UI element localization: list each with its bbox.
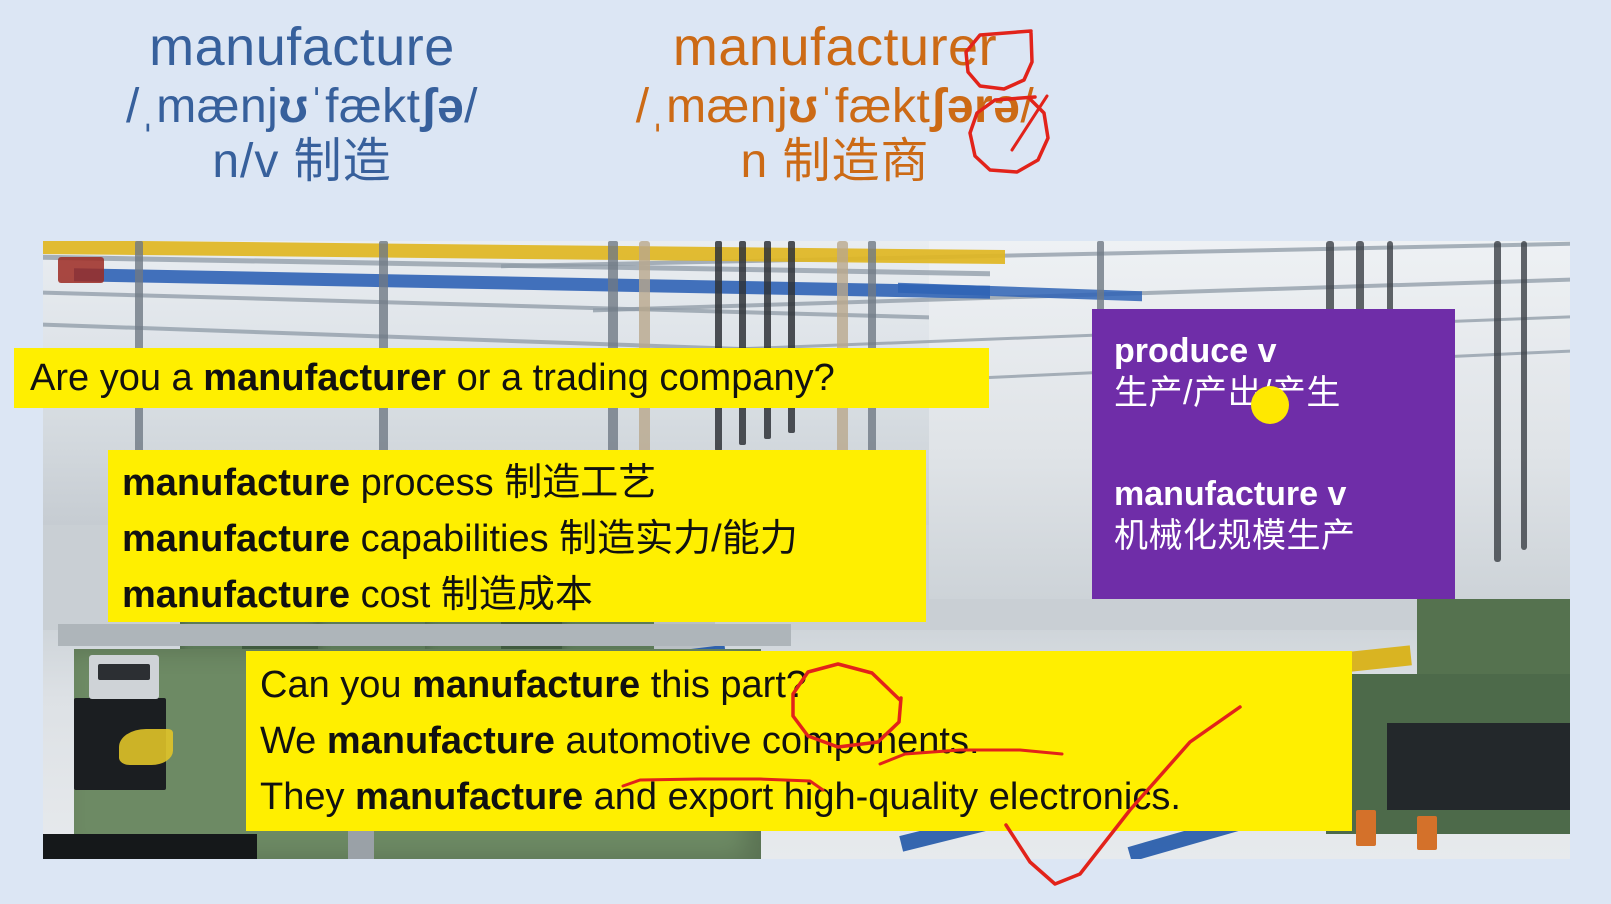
purple-entry2-gloss: 机械化规模生产 [1114, 515, 1455, 559]
vocab-ipa-right: /ˌmænjʊˈfæktʃərə/ [565, 79, 1105, 135]
highlight-banner-question: Are you a manufacturer or a trading comp… [14, 348, 989, 408]
example-keyword: manufacture [327, 720, 555, 762]
vocab-gloss-left: n/v 制造 [42, 134, 562, 190]
vocab-entry-manufacture: manufacture /ˌmænjʊˈfæktʃə/ n/v 制造 [42, 16, 562, 190]
foreground-machine-top [58, 624, 791, 646]
highlight-banner-examples: Can you manufacture this part? We manufa… [246, 651, 1352, 831]
purple-definition-box: produce v 生产/产出/产生 manufacture v 机械化规模生产 [1092, 309, 1455, 599]
purple-spacer [1114, 416, 1455, 474]
example-post: automotive components. [555, 720, 980, 762]
machine-unit [1387, 723, 1570, 810]
crane-hoist [58, 257, 104, 283]
example-line: They manufacture and export high-quality… [260, 769, 1352, 825]
example-line: We manufacture automotive components. [260, 713, 1352, 769]
collocation-keyword: manufacture [122, 518, 350, 560]
collocation-rest: cost 制造成本 [350, 574, 593, 616]
ipa-post-right: / [1020, 80, 1034, 133]
ipa-pre-right: /ˌmænj [636, 80, 788, 133]
collocation-line: manufacture cost 制造成本 [122, 567, 926, 623]
example-pre: Can you [260, 664, 412, 706]
vocab-entry-manufacturer: manufacturer /ˌmænjʊˈfæktʃərə/ n 制造商 [565, 16, 1105, 190]
highlight-banner-collocations: manufacture process 制造工艺 manufacture cap… [108, 450, 926, 622]
vocab-gloss-right: n 制造商 [565, 134, 1105, 190]
example-post: this part? [640, 664, 807, 706]
collocation-line: manufacture process 制造工艺 [122, 455, 926, 511]
example-line: Can you manufacture this part? [260, 657, 1352, 713]
cable-bundle [764, 241, 771, 439]
question-pre: Are you a [30, 357, 203, 399]
collocation-rest: process 制造工艺 [350, 462, 656, 504]
vocab-word-left: manufacture [42, 16, 562, 79]
example-keyword: manufacture [412, 664, 640, 706]
machine-foot [1417, 816, 1437, 850]
control-panel-display [98, 664, 150, 680]
cable-bundle [1494, 241, 1501, 562]
ipa-bold1-left: ʊ [278, 80, 308, 133]
vocab-word-right: manufacturer [565, 16, 1105, 79]
ipa-pre-left: /ˌmænj [126, 80, 278, 133]
collocation-line: manufacture capabilities 制造实力/能力 [122, 511, 926, 567]
ipa-bold2-left: ʃə [420, 80, 464, 133]
cable-bundle [715, 241, 722, 451]
foreground-machine-marking [119, 729, 173, 765]
slide-canvas: manufacture /ˌmænjʊˈfæktʃə/ n/v 制造 manuf… [0, 0, 1611, 904]
ipa-mid-right: ˈfækt [818, 80, 930, 133]
yellow-dot-cursor[interactable] [1251, 386, 1289, 424]
question-post: or a trading company? [446, 357, 835, 399]
cable-bundle [1521, 241, 1527, 550]
machine-foot [1356, 810, 1376, 846]
example-pre: We [260, 720, 327, 762]
vocab-ipa-left: /ˌmænjʊˈfæktʃə/ [42, 79, 562, 135]
example-post: and export high-quality electronics. [583, 776, 1181, 818]
question-keyword: manufacturer [203, 357, 446, 399]
collocation-keyword: manufacture [122, 574, 350, 616]
example-keyword: manufacture [355, 776, 583, 818]
ipa-bold2-right: ʃərə [930, 80, 1020, 133]
machine-base [43, 834, 257, 859]
collocation-rest: capabilities 制造实力/能力 [350, 518, 798, 560]
purple-entry2-headword: manufacture v [1114, 474, 1455, 515]
ipa-post-left: / [464, 80, 478, 133]
example-pre: They [260, 776, 355, 818]
cable-bundle [739, 241, 746, 445]
ipa-bold1-right: ʊ [788, 80, 818, 133]
ipa-mid-left: ˈfækt [309, 80, 421, 133]
purple-entry1-headword: produce v [1114, 331, 1455, 372]
collocation-keyword: manufacture [122, 462, 350, 504]
